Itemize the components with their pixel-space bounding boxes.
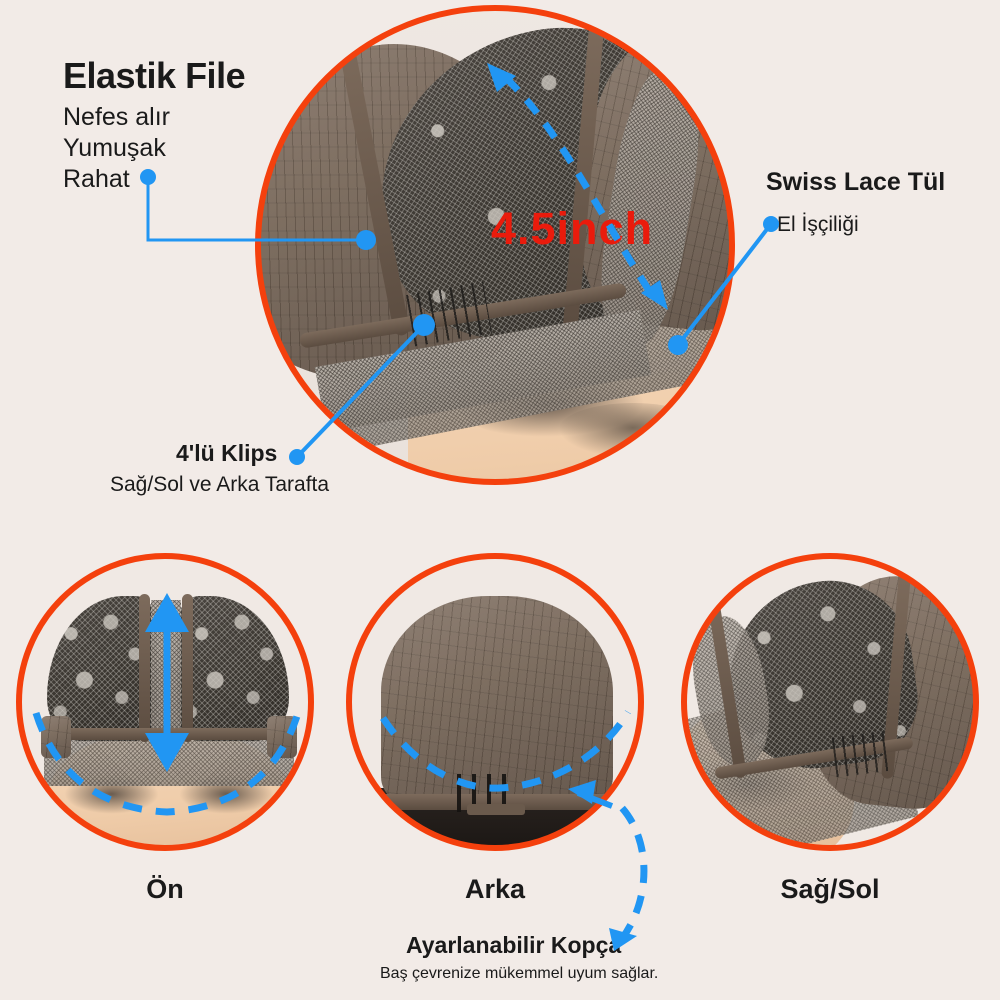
view-label-side: Sağ/Sol	[665, 874, 995, 905]
clasp-subtitle: Baş çevrenize mükemmel uyum sağlar.	[380, 965, 658, 983]
elastic-mesh-line-1: Nefes alır	[63, 102, 170, 133]
elastic-mesh-title: Elastik File	[63, 55, 245, 97]
clips-title: 4'lü Klips	[176, 440, 277, 467]
view-label-front: Ön	[0, 874, 330, 905]
swiss-lace-title: Swiss Lace Tül	[766, 168, 945, 197]
infographic-canvas: 4.5inch Elastik File Nefes alır Yumuşak …	[0, 0, 1000, 1000]
clips-subtitle: Sağ/Sol ve Arka Tarafta	[110, 473, 329, 497]
elastic-mesh-line-3: Rahat	[63, 164, 130, 195]
view-label-back: Arka	[330, 874, 660, 905]
front-view-ring	[16, 553, 314, 851]
elastic-mesh-line-2: Yumuşak	[63, 133, 166, 164]
clasp-title: Ayarlanabilir Kopça	[406, 932, 621, 959]
measurement-label: 4.5inch	[491, 203, 653, 255]
swiss-lace-subtitle: El İşçiliği	[777, 213, 859, 237]
side-view-ring	[681, 553, 979, 851]
back-view-ring	[346, 553, 644, 851]
